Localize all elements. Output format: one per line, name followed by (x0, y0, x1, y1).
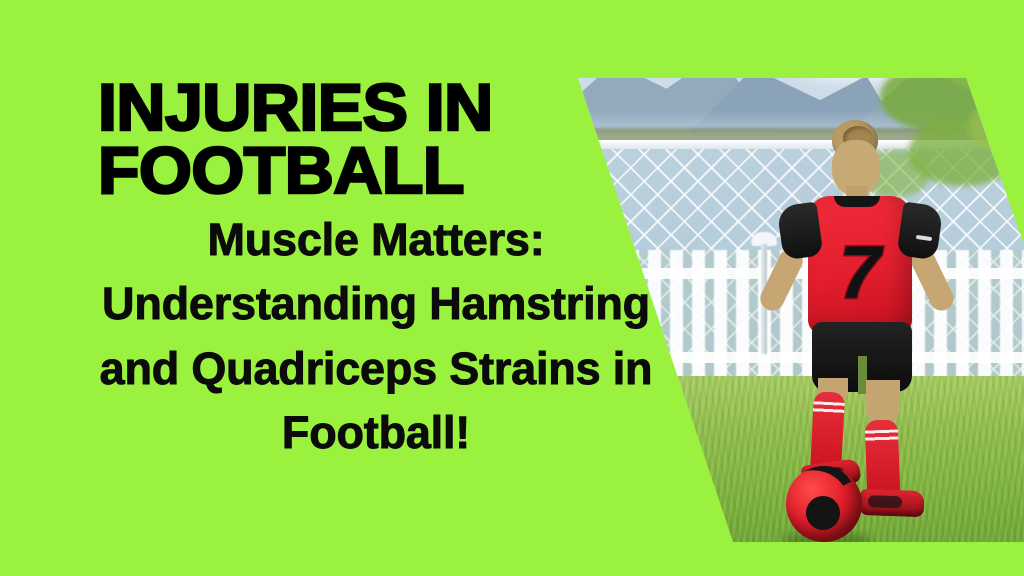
jersey-sleeve-right (896, 201, 943, 260)
sock-stripes (813, 401, 845, 415)
jersey-collar (834, 196, 880, 207)
jersey-sleeve-left (776, 201, 823, 260)
page-subtitle: Muscle Matters: Understanding Hamstring … (96, 208, 656, 465)
cleat-detail (868, 495, 902, 508)
cloud-icon (710, 8, 830, 42)
jersey-number: 7 (828, 236, 892, 310)
player-leg-right (866, 380, 900, 422)
ball-panel (786, 466, 862, 534)
page-title: INJURIES IN FOOTBALL (98, 76, 634, 201)
soccer-ball (786, 466, 862, 542)
player-sock-right (865, 419, 901, 498)
sock-stripes (865, 429, 898, 442)
cloud-icon (860, 22, 1020, 62)
banner: 7 (0, 0, 1024, 576)
text-column: INJURIES IN FOOTBALL Muscle Matters: Und… (0, 0, 660, 576)
player-cleat-right (860, 489, 925, 517)
